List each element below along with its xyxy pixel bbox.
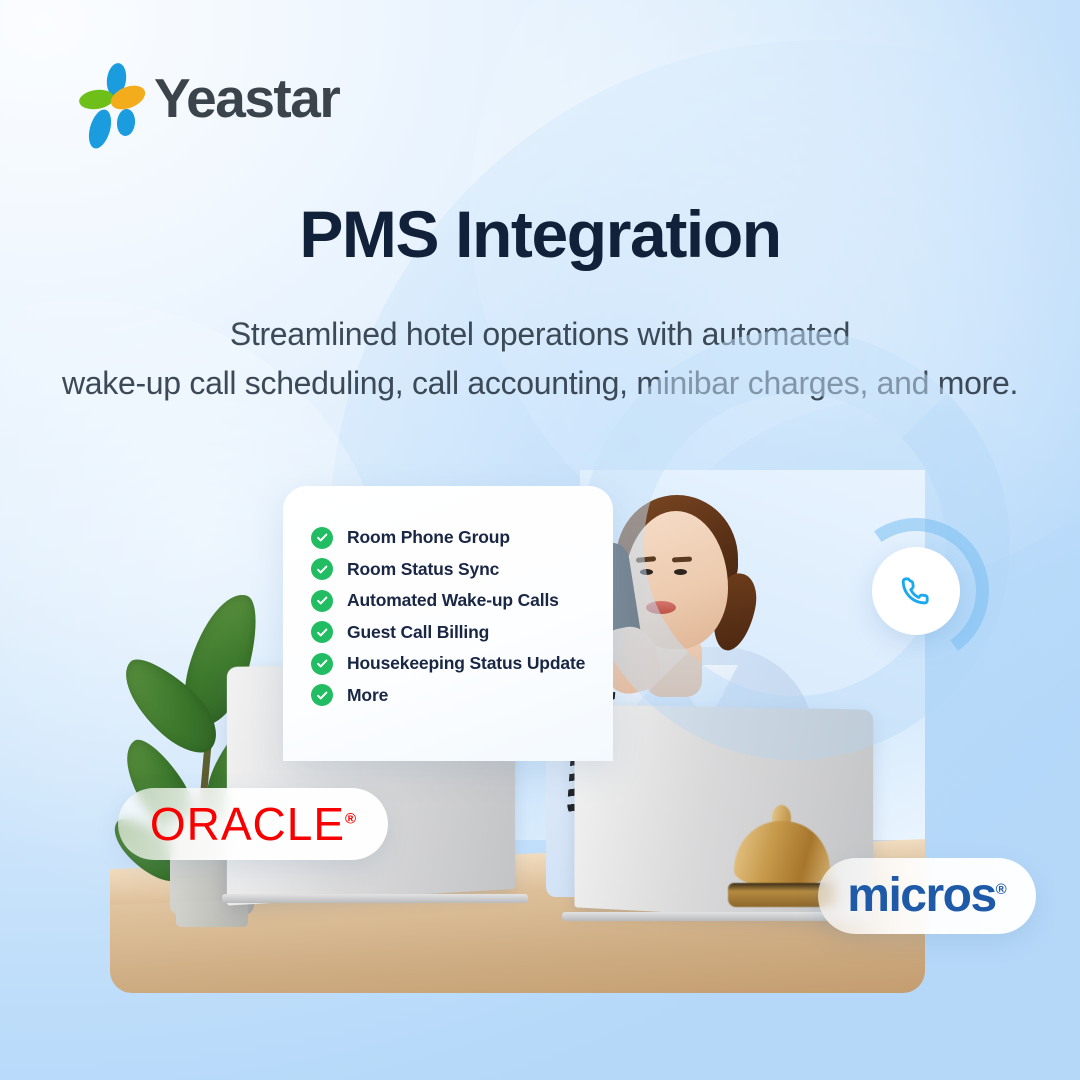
yeastar-flower-logo-icon — [78, 62, 142, 134]
check-circle-icon — [311, 684, 333, 706]
page-title: PMS Integration — [0, 196, 1080, 272]
phone-badge[interactable] — [872, 547, 960, 635]
subtitle-line-2: wake-up call scheduling, call accounting… — [0, 359, 1080, 408]
person-eye — [640, 569, 653, 575]
poster-canvas: Yeastar PMS Integration Streamlined hote… — [0, 0, 1080, 1080]
oracle-logo-icon: ORACLE® — [150, 801, 356, 847]
micros-label: micros — [847, 869, 995, 922]
list-item[interactable]: Guest Call Billing — [311, 617, 613, 649]
list-item[interactable]: Room Phone Group — [311, 522, 613, 554]
feature-label: Room Status Sync — [347, 559, 499, 580]
feature-label: Automated Wake-up Calls — [347, 590, 559, 611]
person-eye — [674, 569, 687, 575]
check-circle-icon — [311, 558, 333, 580]
subtitle-line-1: Streamlined hotel operations with automa… — [0, 310, 1080, 359]
check-circle-icon — [311, 590, 333, 612]
micros-logo-icon: micros® — [847, 872, 1006, 920]
service-bell-dome — [734, 821, 830, 887]
list-item[interactable]: Automated Wake-up Calls — [311, 585, 613, 617]
feature-label: Guest Call Billing — [347, 622, 489, 643]
micros-trademark: ® — [996, 881, 1007, 898]
list-item[interactable]: Room Status Sync — [311, 554, 613, 586]
phone-handset-icon — [899, 574, 933, 608]
partner-badge-oracle[interactable]: ORACLE® — [118, 788, 388, 860]
brand-logo[interactable]: Yeastar — [78, 62, 339, 134]
feature-list-card: Room Phone Group Room Status Sync Automa… — [283, 486, 613, 761]
laptop-base — [222, 894, 528, 903]
oracle-label: ORACLE — [150, 798, 345, 850]
feature-label: Room Phone Group — [347, 527, 510, 548]
feature-label: Housekeeping Status Update — [347, 653, 585, 674]
check-circle-icon — [311, 653, 333, 675]
feature-list: Room Phone Group Room Status Sync Automa… — [311, 522, 613, 711]
list-item[interactable]: Housekeeping Status Update — [311, 648, 613, 680]
page-subtitle: Streamlined hotel operations with automa… — [0, 310, 1080, 407]
person-lips — [646, 601, 676, 614]
check-circle-icon — [311, 527, 333, 549]
partner-badge-micros[interactable]: micros® — [818, 858, 1036, 934]
person-eyebrow — [672, 556, 692, 562]
oracle-trademark: ® — [345, 811, 356, 828]
brand-wordmark: Yeastar — [154, 71, 339, 126]
check-circle-icon — [311, 621, 333, 643]
list-item[interactable]: More — [311, 680, 613, 712]
feature-label: More — [347, 685, 388, 706]
